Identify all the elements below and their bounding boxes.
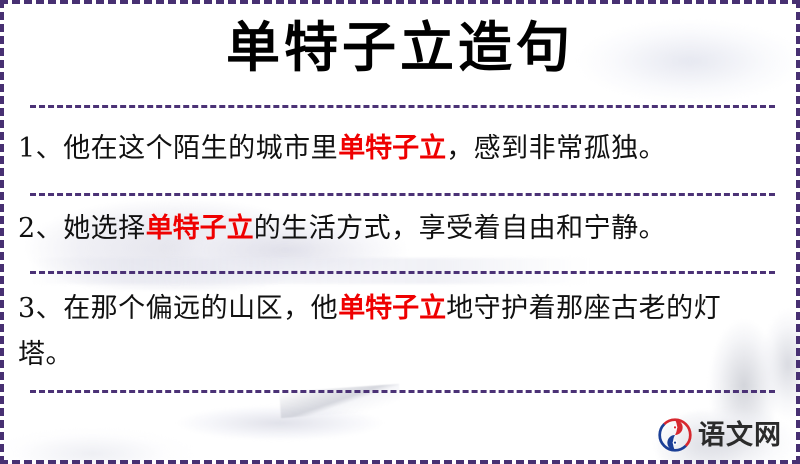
yuwen-logo-icon — [658, 418, 692, 452]
sentence-2-number: 2、 — [18, 213, 63, 244]
sentence-3-number: 3、 — [18, 293, 63, 324]
sentence-1-text-before: 他在这个陌生的城市里 — [63, 133, 338, 164]
slide-page: 单特子立造句 1、他在这个陌生的城市里单特子立，感到非常孤独。 2、她选择单特子… — [0, 0, 800, 464]
brand-watermark: 语文网 — [658, 418, 782, 452]
divider-line-4 — [30, 390, 775, 393]
sentence-2-text-before: 她选择 — [63, 213, 146, 244]
sentence-1-text-after: ，感到非常孤独。 — [446, 133, 666, 164]
divider-line-3 — [30, 271, 775, 274]
sentence-3-text-before: 在那个偏远的山区，他 — [63, 293, 338, 324]
page-title: 单特子立造句 — [0, 14, 800, 82]
example-sentence-1: 1、他在这个陌生的城市里单特子立，感到非常孤独。 — [18, 126, 760, 172]
slide-content: 单特子立造句 1、他在这个陌生的城市里单特子立，感到非常孤独。 2、她选择单特子… — [0, 0, 800, 464]
divider-line-2 — [30, 193, 775, 196]
brand-name-label: 语文网 — [698, 422, 782, 449]
sentence-1-number: 1、 — [18, 133, 63, 164]
sentence-3-keyword: 单特子立 — [338, 293, 446, 324]
sentence-2-text-after: 的生活方式，享受着自由和宁静。 — [254, 213, 667, 244]
example-sentence-2: 2、她选择单特子立的生活方式，享受着自由和宁静。 — [18, 206, 760, 252]
sentence-1-keyword: 单特子立 — [338, 133, 446, 164]
divider-line-1 — [30, 105, 775, 108]
sentence-2-keyword: 单特子立 — [146, 213, 254, 244]
example-sentence-3: 3、在那个偏远的山区，他单特子立地守护着那座古老的灯塔。 — [18, 286, 760, 378]
